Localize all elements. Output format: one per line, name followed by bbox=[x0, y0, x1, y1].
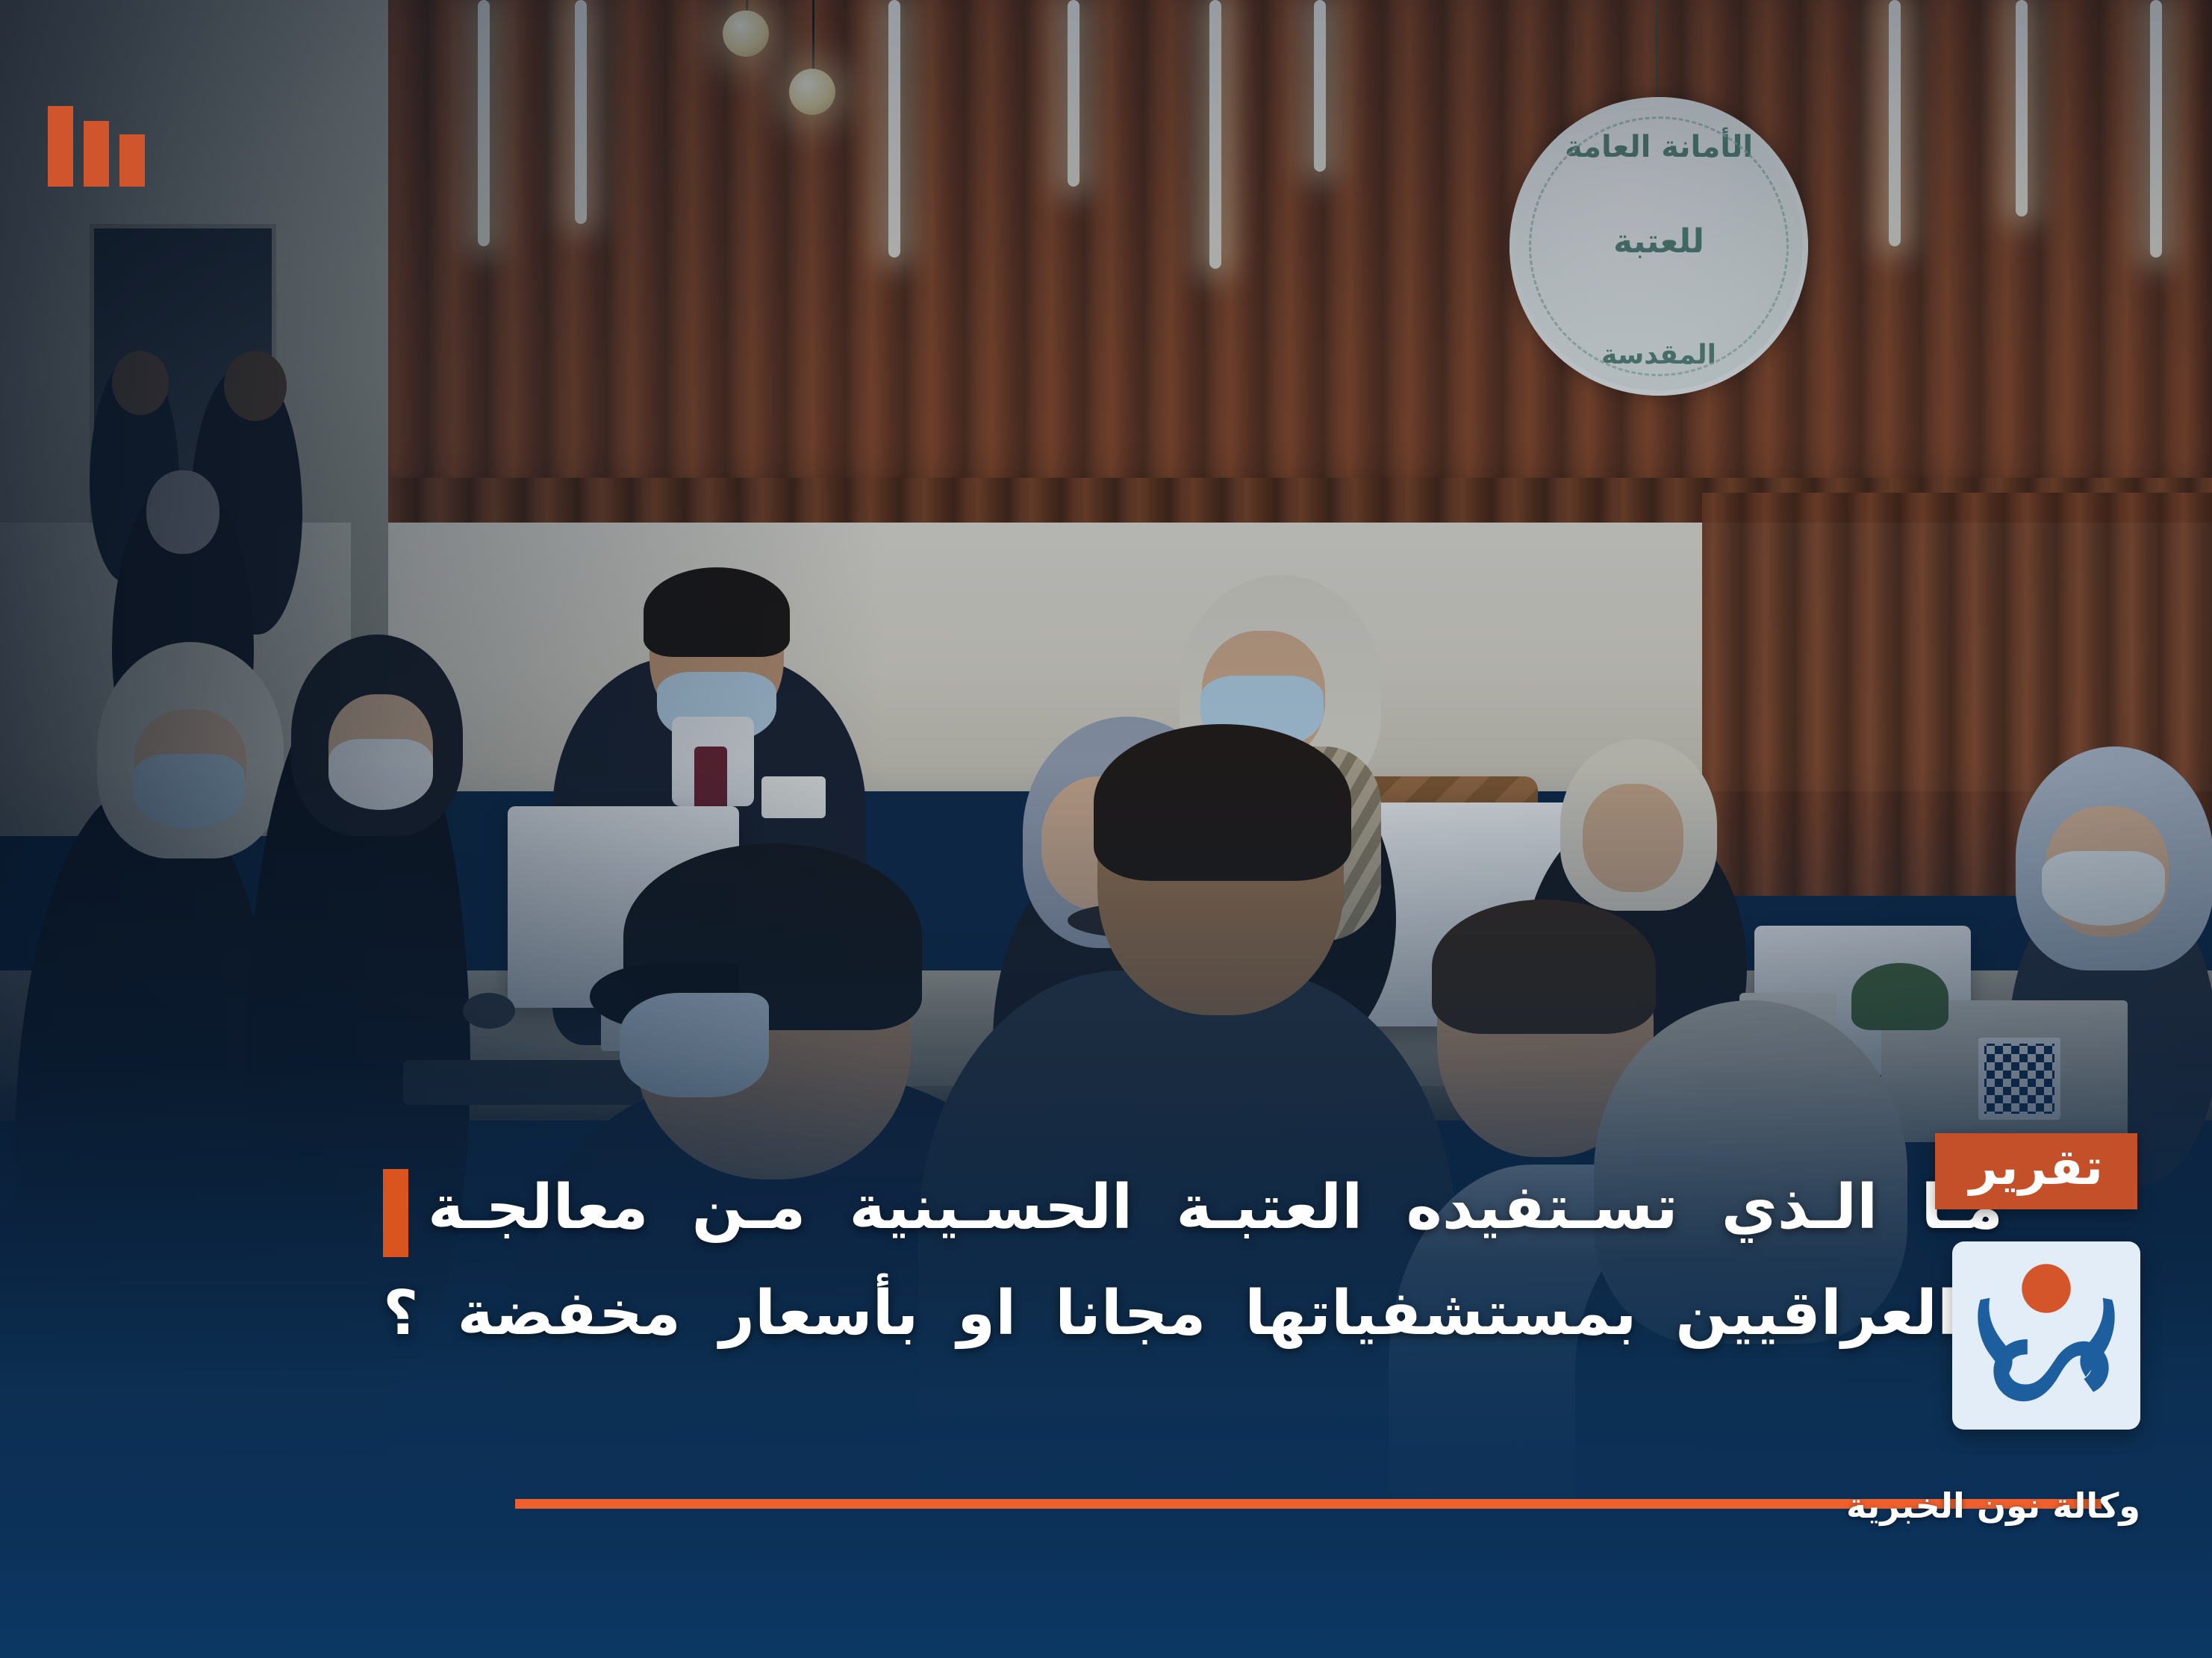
headline-line-2: العراقيين بمستشفياتها مجانا او بأسعار مخ… bbox=[383, 1271, 1958, 1357]
agency-name: وكالة نون الخبرية bbox=[1846, 1486, 2140, 1526]
headline-block: مـا الـذي تسـتفيده العتبـة الحسـينية مـن… bbox=[383, 1165, 2100, 1357]
report-badge: تقرير bbox=[1935, 1133, 2137, 1209]
news-graphic-card: الأمانة العامة للعتبة المقدسة bbox=[0, 0, 2212, 1658]
photo-bottom-gradient bbox=[0, 0, 2212, 1658]
headline-first-row: مـا الـذي تسـتفيده العتبـة الحسـينية مـن… bbox=[383, 1165, 2003, 1257]
photo-background: الأمانة العامة للعتبة المقدسة bbox=[0, 0, 2212, 1658]
noon-agency-logo[interactable] bbox=[1952, 1241, 2140, 1430]
brand-bar-short bbox=[119, 134, 145, 187]
headline-accent-bar bbox=[383, 1169, 408, 1257]
noon-bars-mark bbox=[48, 105, 145, 187]
headline-line-1: مـا الـذي تسـتفيده العتبـة الحسـينية مـن… bbox=[428, 1165, 2003, 1251]
brand-bar-medium bbox=[84, 121, 109, 187]
brand-bar-tall bbox=[48, 106, 73, 187]
noon-logo-icon bbox=[1952, 1241, 2140, 1430]
